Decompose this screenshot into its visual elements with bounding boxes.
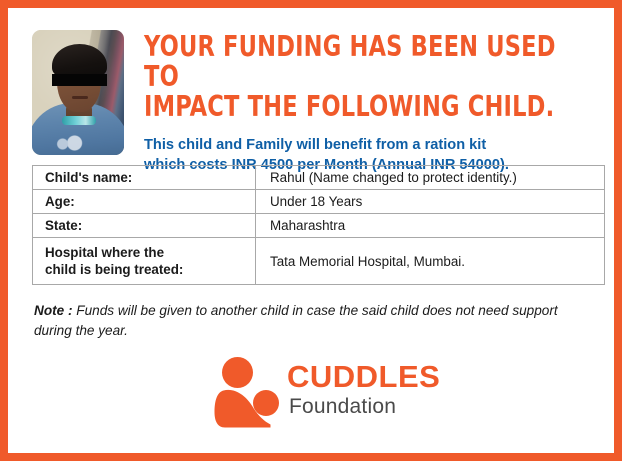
row-label-child-name: Child's name: <box>33 166 256 190</box>
cuddles-foundation-logo: CUDDLES Foundation <box>213 356 445 430</box>
row-label-age: Age: <box>33 190 256 214</box>
logo-wordmark: CUDDLES Foundation <box>287 360 440 420</box>
child-photo <box>32 30 124 155</box>
table-row: Hospital where the child is being treate… <box>33 238 605 285</box>
footnote-prefix: Note : <box>34 303 76 318</box>
footnote: Note : Funds will be given to another ch… <box>34 301 594 341</box>
row-value-age: Under 18 Years <box>256 190 605 214</box>
table-row: State: Maharashtra <box>33 214 605 238</box>
header-section: YOUR FUNDING HAS BEEN USED TO IMPACT THE… <box>8 8 622 156</box>
row-label-hospital: Hospital where the child is being treate… <box>33 238 256 285</box>
header-text-block: YOUR FUNDING HAS BEEN USED TO IMPACT THE… <box>144 32 614 175</box>
footnote-body: Funds will be given to another child in … <box>34 303 558 338</box>
row-label-state: State: <box>33 214 256 238</box>
photo-mouth <box>72 96 88 99</box>
logo-secondary-text: Foundation <box>287 394 440 420</box>
row-value-state: Maharashtra <box>256 214 605 238</box>
table-row: Age: Under 18 Years <box>33 190 605 214</box>
logo-primary-text: CUDDLES <box>287 360 440 394</box>
page-title: YOUR FUNDING HAS BEEN USED TO IMPACT THE… <box>144 32 558 122</box>
shirt-graphic <box>56 133 86 153</box>
table-row: Child's name: Rahul (Name changed to pro… <box>33 166 605 190</box>
row-value-child-name: Rahul (Name changed to protect identity.… <box>256 166 605 190</box>
photo-collar <box>62 116 96 125</box>
impact-certificate-card: YOUR FUNDING HAS BEEN USED TO IMPACT THE… <box>0 0 622 461</box>
cuddles-parent-child-mark-icon <box>213 356 281 428</box>
row-value-hospital: Tata Memorial Hospital, Mumbai. <box>256 238 605 285</box>
privacy-redaction-bar <box>52 74 107 86</box>
child-details-table: Child's name: Rahul (Name changed to pro… <box>32 165 605 285</box>
